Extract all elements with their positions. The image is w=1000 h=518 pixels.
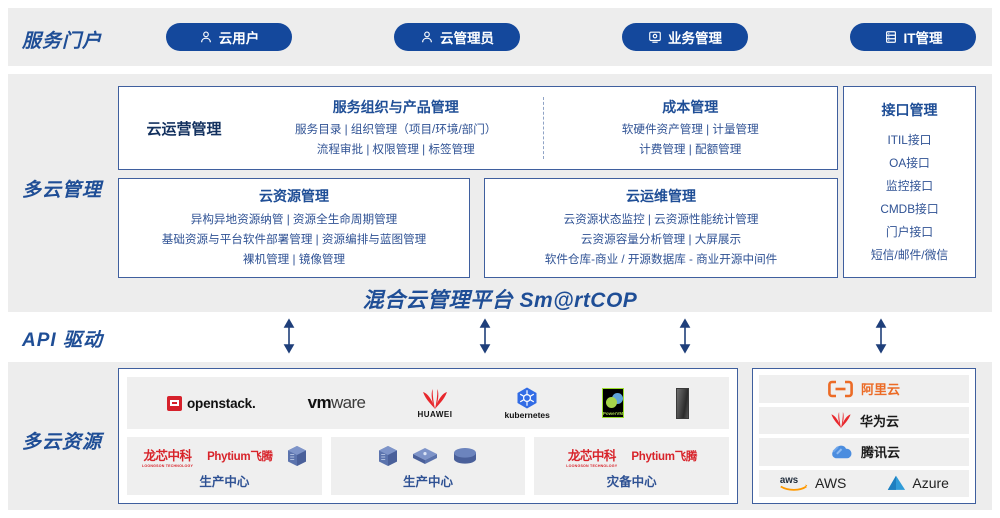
datacenter-name: 生产中心 — [403, 471, 453, 490]
card-title: 云运维管理 — [485, 186, 837, 206]
server-cube-icon — [378, 445, 398, 467]
card-line: 云资源状态监控 | 云资源性能统计管理 — [485, 210, 837, 230]
vendor-huawei[interactable]: HUAWEI — [417, 388, 452, 419]
public-cloud-label: 阿里云 — [861, 379, 900, 398]
portal-button-label: IT管理 — [904, 27, 943, 47]
double-arrow-icon — [479, 318, 491, 354]
vendor-vmware[interactable]: vmware — [308, 393, 366, 413]
portal-button-label: 业务管理 — [668, 27, 722, 47]
ops-column-title: 服务组织与产品管理 — [255, 97, 537, 117]
layer-label-management: 多云管理 — [22, 175, 102, 202]
chip-label: 龙芯中科 — [143, 445, 191, 464]
card-title: 云资源管理 — [119, 186, 469, 206]
portal-button-label: 云管理员 — [440, 27, 494, 47]
portal-button-cloud-user[interactable]: 云用户 — [166, 23, 292, 51]
alibaba-cloud-icon — [828, 380, 854, 398]
card-cloud-operations[interactable]: 云运营管理 服务组织与产品管理 服务目录 | 组织管理（项目/环境/部门） 流程… — [118, 86, 838, 170]
card-line: 裸机管理 | 镜像管理 — [119, 250, 469, 270]
layer-label-api-driven: API 驱动 — [22, 325, 103, 352]
public-cloud-label: Azure — [912, 475, 949, 491]
ops-column-line: 服务目录 | 组织管理（项目/环境/部门） — [255, 120, 537, 140]
public-cloud-tencent[interactable]: 腾讯云 — [759, 438, 969, 466]
monitor-icon — [648, 30, 662, 44]
datacenter-name: 生产中心 — [199, 471, 249, 490]
card-line: 云资源容量分析管理 | 大屏展示 — [485, 230, 837, 250]
double-arrow-icon — [679, 318, 691, 354]
chip-sublabel: LOONGSON TECHNOLOGY — [142, 464, 193, 468]
interface-item[interactable]: CMDB接口 — [880, 198, 938, 221]
vendor-label: PowerVM — [603, 411, 623, 416]
card-interface-mgmt[interactable]: 接口管理 ITIL接口 OA接口 监控接口 CMDB接口 门户接口 短信/邮件/… — [843, 86, 976, 278]
ops-column-cost: 成本管理 软硬件资产管理 | 计量管理 计费管理 | 配额管理 — [543, 97, 838, 160]
powervm-icon: PowerVM — [602, 388, 624, 418]
interface-item[interactable]: OA接口 — [889, 152, 930, 175]
user-icon — [199, 30, 213, 44]
card-cloud-resource-mgmt[interactable]: 云资源管理 异构异地资源纳管 | 资源全生命周期管理 基础资源与平台软件部署管理… — [118, 178, 470, 278]
loongson-logo: 龙芯中科 LOONGSON TECHNOLOGY — [142, 445, 193, 468]
vendor-kubernetes[interactable]: kubernetes — [505, 386, 550, 420]
public-cloud-label: AWS — [815, 475, 846, 491]
tencent-cloud-icon — [828, 443, 854, 461]
vmware-logo: vm — [308, 393, 331, 412]
vendor-label: HUAWEI — [417, 410, 452, 419]
card-line: 异构异地资源纳管 | 资源全生命周期管理 — [119, 210, 469, 230]
public-cloud-alibaba[interactable]: 阿里云 — [759, 375, 969, 403]
card-title: 接口管理 — [882, 100, 938, 120]
server-cube-icon — [287, 445, 307, 467]
huawei-flower-icon — [420, 388, 450, 410]
ops-column-line: 软硬件资产管理 | 计量管理 — [550, 120, 832, 140]
openstack-icon — [167, 396, 182, 411]
ops-column-service-org: 服务组织与产品管理 服务目录 | 组织管理（项目/环境/部门） 流程审批 | 权… — [249, 97, 543, 160]
platform-title: 混合云管理平台 Sm@rtCOP — [0, 284, 1000, 314]
portal-button-label: 云用户 — [219, 27, 260, 47]
vendor-logo-strip: openstack. vmware HUAWEI — [127, 377, 729, 429]
public-cloud-label: 华为云 — [860, 411, 899, 430]
portal-button-business-mgmt[interactable]: 业务管理 — [622, 23, 748, 51]
interface-item[interactable]: 监控接口 — [886, 175, 933, 198]
public-cloud-row-aws-azure: aws AWS Azure — [759, 470, 969, 498]
portal-button-it-mgmt[interactable]: IT管理 — [850, 23, 976, 51]
vendor-label: kubernetes — [505, 410, 550, 420]
chip-sublabel: LOONGSON TECHNOLOGY — [566, 464, 617, 468]
kubernetes-helm-icon — [515, 386, 539, 410]
storage-disk-icon — [452, 446, 478, 466]
aws-icon: aws — [779, 473, 809, 493]
server-icon — [884, 30, 898, 44]
private-cloud-box: openstack. vmware HUAWEI — [118, 368, 738, 504]
datacenter-disaster-recovery[interactable]: 龙芯中科 LOONGSON TECHNOLOGY Phytium飞腾 灾备中心 — [534, 437, 729, 495]
layer-label-resources: 多云资源 — [22, 427, 102, 454]
card-cloud-operations-name: 云运营管理 — [119, 118, 249, 139]
switch-icon — [412, 445, 438, 467]
svg-text:aws: aws — [780, 475, 798, 486]
double-arrow-icon — [875, 318, 887, 354]
vendor-openstack[interactable]: openstack. — [167, 396, 256, 411]
card-cloud-maintenance-mgmt[interactable]: 云运维管理 云资源状态监控 | 云资源性能统计管理 云资源容量分析管理 | 大屏… — [484, 178, 838, 278]
portal-button-cloud-admin[interactable]: 云管理员 — [394, 23, 520, 51]
card-line: 基础资源与平台软件部署管理 | 资源编排与蓝图管理 — [119, 230, 469, 250]
public-cloud-aws[interactable]: aws AWS — [779, 473, 846, 493]
interface-item[interactable]: 门户接口 — [886, 221, 933, 244]
ops-column-title: 成本管理 — [550, 97, 832, 117]
vendor-label: openstack. — [187, 396, 256, 411]
card-line: 软件仓库-商业 / 开源数据库 - 商业开源中间件 — [485, 250, 837, 270]
public-cloud-label: 腾讯云 — [861, 442, 900, 461]
public-cloud-huawei[interactable]: 华为云 — [759, 407, 969, 435]
double-arrow-icon — [283, 318, 295, 354]
datacenter-production-1[interactable]: 龙芯中科 LOONGSON TECHNOLOGY Phytium飞腾 生产中心 — [127, 437, 322, 495]
ops-column-line: 流程审批 | 权限管理 | 标签管理 — [255, 140, 537, 160]
vendor-label: ware — [331, 393, 365, 412]
chip-label: 龙芯中科 — [568, 445, 616, 464]
loongson-logo: 龙芯中科 LOONGSON TECHNOLOGY — [566, 445, 617, 468]
diagram-canvas: 服务门户 云用户 云管理员 业务管理 — [0, 0, 1000, 518]
server-rack-icon — [676, 388, 689, 419]
datacenter-name: 灾备中心 — [607, 471, 657, 490]
datacenter-row: 龙芯中科 LOONGSON TECHNOLOGY Phytium飞腾 生产中心 — [127, 437, 729, 495]
ops-column-line: 计费管理 | 配额管理 — [550, 140, 832, 160]
public-cloud-box: 阿里云 华为云 — [752, 368, 976, 504]
layer-label-portal: 服务门户 — [22, 26, 102, 53]
phytium-logo: Phytium飞腾 — [631, 448, 697, 464]
huawei-cloud-icon — [829, 411, 853, 429]
public-cloud-azure[interactable]: Azure — [886, 474, 949, 492]
datacenter-production-2[interactable]: 生产中心 — [331, 437, 526, 495]
azure-icon — [886, 474, 906, 492]
phytium-logo: Phytium飞腾 — [207, 448, 273, 464]
interface-item[interactable]: 短信/邮件/微信 — [871, 244, 948, 267]
user-icon — [420, 30, 434, 44]
vendor-server-rack[interactable] — [676, 388, 689, 419]
interface-item[interactable]: ITIL接口 — [888, 129, 932, 152]
vendor-powervm[interactable]: PowerVM — [602, 388, 624, 418]
